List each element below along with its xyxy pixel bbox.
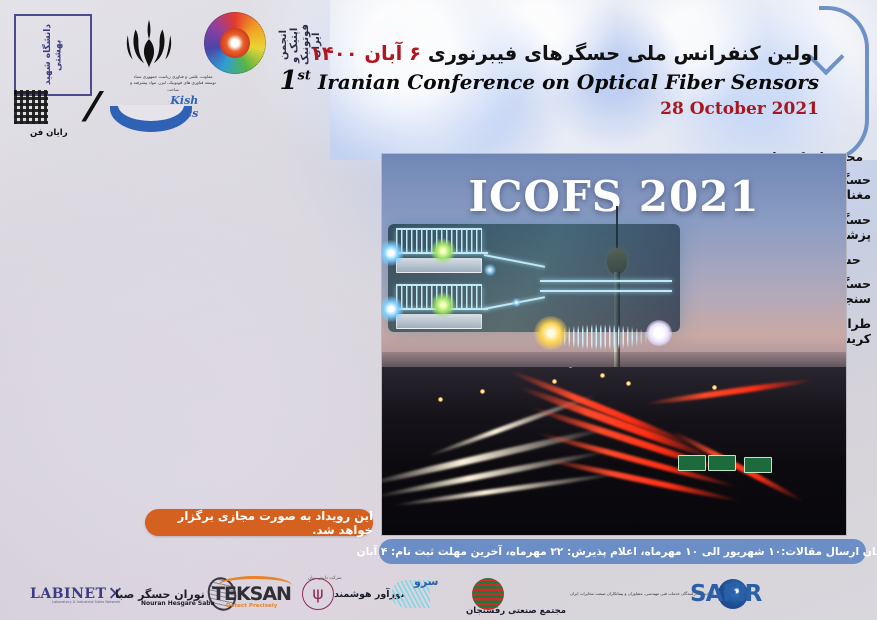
- sponsor-labinet-logo: ✕ LABINET Laboratory & Industrial Sales …: [30, 574, 123, 614]
- date-english: 28 October 2021: [219, 99, 819, 119]
- sbu-logo-text: دانشگاه شهید بهشتی: [43, 16, 64, 94]
- virtual-event-notice: این رویداد به صورت مجازی برگزار خواهد شد…: [145, 509, 373, 536]
- iran-presidency-caption: معاونت علمی و فناوری ریاست جمهوری ستاد ت…: [128, 74, 218, 93]
- rayan-mark-icon: ⁄: [48, 88, 96, 132]
- sponsor-labinet-sub: Laboratory & Industrial Sales Network: [52, 600, 120, 604]
- deadline-bar: زمان ارسال مقالات:۱۰ شهریور الی ۱۰ مهرما…: [379, 539, 866, 564]
- highway-light-trails: [382, 367, 846, 535]
- sponsor-safir-logo: SAFIR: [690, 574, 761, 614]
- title-persian-date: ۶ آبان ۱۴۰۰: [310, 42, 421, 65]
- sponsor-rafsanjan-label: مجتمع صنعتی رفسنجان: [466, 606, 566, 616]
- teksan-arc-icon: [218, 576, 292, 595]
- title-ordinal: 1st: [279, 66, 310, 96]
- sponsor-rafsanjan-logo: مجتمع صنعتی رفسنجان: [472, 574, 504, 614]
- shahid-beheshti-university-logo: دانشگاه شهید بهشتی: [14, 14, 92, 96]
- rayan-fan-logo: ⁄ رایان فن: [14, 88, 100, 140]
- title-persian-main: اولین کنفرانس ملی حسگرهای فیبرنوری: [428, 42, 819, 65]
- poster-header: اولین کنفرانس ملی حسگرهای فیبرنوری ۶ آبا…: [219, 42, 819, 119]
- sponsor-safir-label: SAFIR: [690, 581, 761, 607]
- title-english-text: Iranian Conference on Optical Fiber Sens…: [318, 70, 819, 94]
- title-english: 1st Iranian Conference on Optical Fiber …: [219, 67, 819, 97]
- decorative-bracket: [819, 6, 869, 162]
- kish-mechatronics-logo: Kish Mechatronics: [110, 92, 196, 136]
- nooravar-emblem-icon: ψ: [302, 578, 334, 610]
- sponsor-nooravar-sub: شرکت دانش بنیان: [308, 576, 342, 581]
- sponsor-sarv-logo: سرو: [392, 574, 430, 614]
- sponsor-teksan-logo: TEKSAN Detect Precisely: [212, 574, 291, 614]
- sponsor-teksan-sub: Detect Precisely: [226, 603, 277, 609]
- center-photo: ICOFS 2021: [381, 153, 847, 536]
- sponsor-nouran-label-en: Nouran Hesgare Saba: [141, 600, 215, 607]
- fiber-interferometer-illustration: [388, 224, 680, 332]
- sponsor-nouran-label-fa: نوران حسگر صبا: [115, 588, 205, 601]
- deadline-bar-label: زمان ارسال مقالات:۱۰ شهریور الی ۱۰ مهرما…: [357, 546, 877, 558]
- sponsor-sarv-label: سرو: [414, 575, 439, 588]
- rayan-qr-icon: [14, 90, 48, 124]
- conference-poster: دانشگاه شهید بهشتی معاونت علمی و فناوری …: [0, 0, 877, 620]
- virtual-event-notice-label: این رویداد به صورت مجازی برگزار خواهد شد…: [145, 509, 373, 537]
- rayan-logo-text: رایان فن: [30, 128, 68, 138]
- iran-emblem-icon: [120, 18, 178, 70]
- title-persian: اولین کنفرانس ملی حسگرهای فیبرنوری ۶ آبا…: [219, 42, 819, 66]
- sponsor-logo-strip: ✕ LABINET Laboratory & Industrial Sales …: [0, 568, 877, 620]
